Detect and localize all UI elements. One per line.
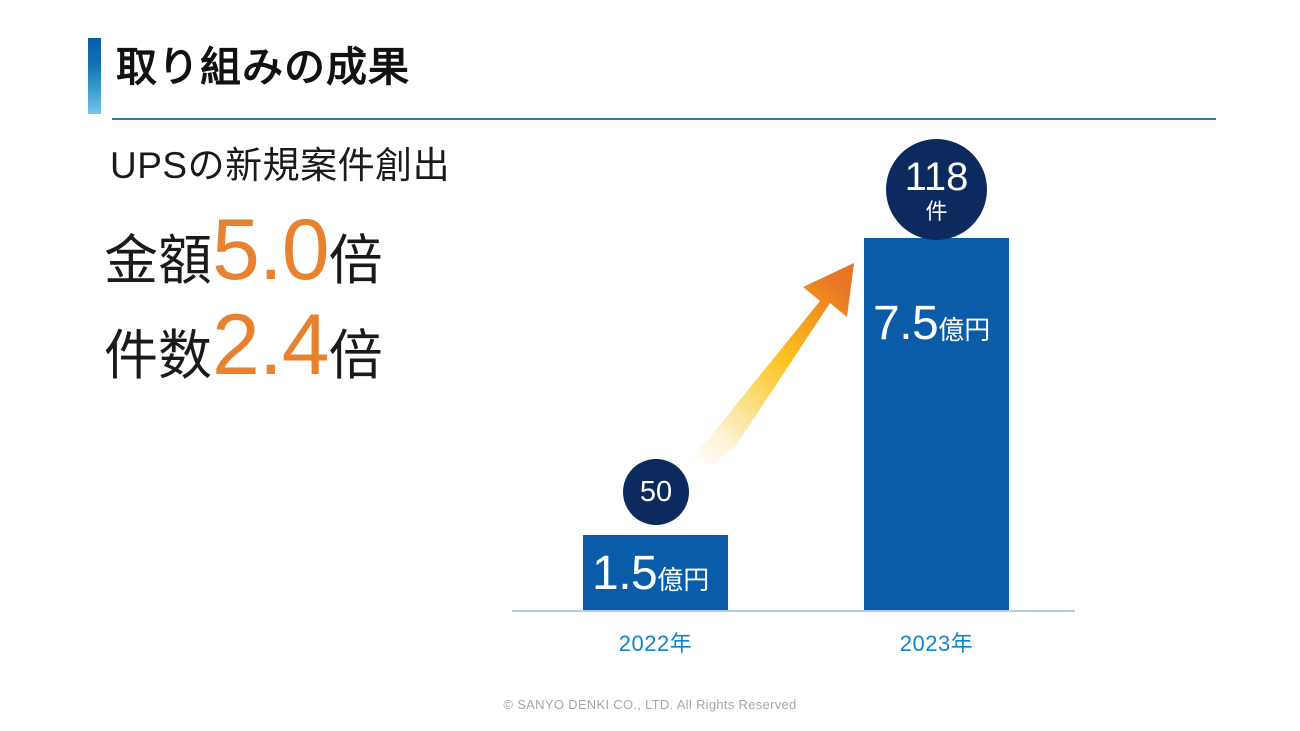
axis-label-2023: 2023年 bbox=[864, 626, 1009, 658]
stat-row-count: 件数2.4倍 bbox=[104, 302, 383, 388]
count-bubble-unit-2023: 件 bbox=[925, 201, 947, 223]
bar-value-2022: 1.5億円 bbox=[592, 550, 709, 598]
stat-label-amount: 金額 bbox=[104, 231, 212, 291]
axis-label-2022: 2022年 bbox=[583, 626, 728, 658]
bar-value-2023: 7.5億円 bbox=[873, 300, 990, 348]
page-title: 取り組みの成果 bbox=[116, 43, 410, 92]
summary-lead-text: UPSの新規案件創出 bbox=[110, 135, 450, 189]
bar-value-unit-2023: 億円 bbox=[938, 315, 990, 345]
stat-number-amount: 5.0 bbox=[212, 202, 329, 298]
count-bubble-2023: 118 件 bbox=[886, 139, 987, 240]
stat-row-amount: 金額5.0倍 bbox=[104, 207, 383, 293]
bar-2023 bbox=[864, 238, 1009, 610]
count-bubble-value-2023: 118 bbox=[905, 157, 969, 197]
chart-baseline-axis bbox=[512, 610, 1075, 612]
footer-copyright: © SANYO DENKI CO., LTD. All Rights Reser… bbox=[0, 697, 1300, 712]
bar-value-number-2022: 1.5 bbox=[592, 547, 657, 600]
bar-value-unit-2022: 億円 bbox=[657, 565, 709, 595]
stat-number-count: 2.4 bbox=[212, 297, 329, 393]
growth-arrow-icon bbox=[680, 235, 870, 465]
slide-canvas: 取り組みの成果 UPSの新規案件創出 金額5.0倍 件数2.4倍 1.5億円 7… bbox=[0, 0, 1300, 731]
title-accent-bar bbox=[88, 38, 101, 114]
bar-value-number-2023: 7.5 bbox=[873, 297, 938, 350]
stat-suffix-amount: 倍 bbox=[329, 231, 383, 291]
stat-suffix-count: 倍 bbox=[329, 326, 383, 386]
bar-2022 bbox=[583, 535, 728, 610]
count-bubble-value-2022: 50 bbox=[640, 478, 672, 507]
stat-label-count: 件数 bbox=[104, 326, 212, 386]
title-divider bbox=[112, 118, 1216, 120]
count-bubble-2022: 50 bbox=[623, 459, 689, 525]
